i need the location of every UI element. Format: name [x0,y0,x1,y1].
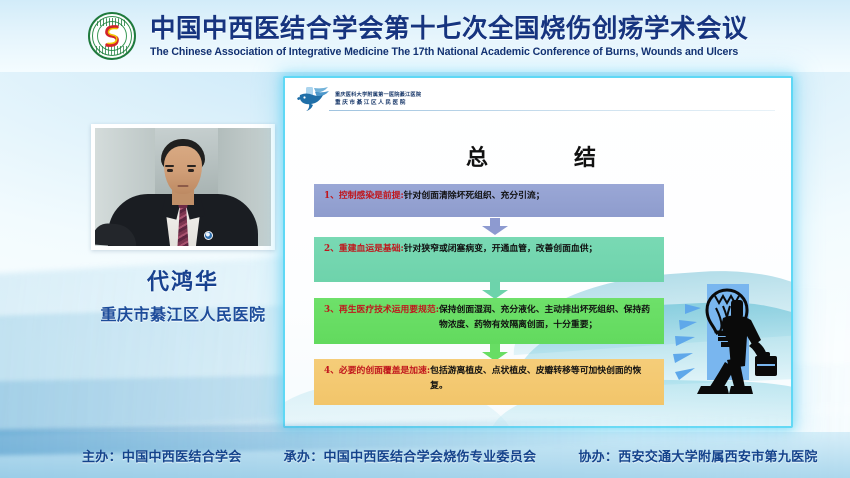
presentation-slide: 重庆医科大学附属第一医院綦江医院 重庆市綦江区人民医院 总 结 1、 控制感染是… [285,78,791,426]
speaker-panel: 代鸿华 重庆市綦江区人民医院 [91,124,275,325]
summary-item-1: 1、 控制感染是前提: 针对创面清除坏死组织、充分引流； [314,184,664,217]
arrow-2-stem [490,282,500,291]
conference-footer: 主办：中国中西医结合学会 承办：中国中西医结合学会烧伤专业委员会 协办：西安交通… [0,432,850,478]
conference-header: 中国中西医结合学会第十七次全国烧伤创疡学术会议 The Chinese Asso… [0,0,850,72]
slide-container[interactable]: 重庆医科大学附属第一医院綦江医院 重庆市綦江区人民医院 总 结 1、 控制感染是… [283,76,793,428]
footer-organizer: 主办：中国中西医结合学会 [82,446,242,465]
connector-arrow-1-icon [482,218,508,235]
footer-host: 承办：中国中西医结合学会烧伤专业委员会 [284,446,537,465]
summary-item-2-body: 针对狭窄或闭塞病变，开通血管，改善创面血供； [404,242,598,257]
slide-header-divider [329,110,775,111]
speaker-mouth [178,185,189,188]
conference-title-en: The Chinese Association of Integrative M… [150,45,748,59]
summary-item-2-index: 2、 [324,242,339,257]
speaker-video-feed[interactable] [95,128,271,246]
businessman-lightbulb-idea-icon [671,274,789,396]
hospital-names: 重庆医科大学附属第一医院綦江医院 重庆市綦江区人民医院 [335,92,421,107]
summary-item-3: 3、 再生医疗技术运用要规范: 保持创面湿润、充分液化、主动排出坏死组织、保持药… [314,298,664,344]
speaker-organization: 重庆市綦江区人民医院 [91,301,275,325]
summary-item-4: 4、 必要的创面覆盖是加速: 包括游离植皮、点状植皮、皮瓣转移等可加快创面的恢复… [314,359,664,405]
arrow-3-stem [490,344,500,353]
speaker-name: 代鸿华 [91,264,275,296]
speaker-eyebrow-left [165,165,174,167]
summary-item-4-lead: 必要的创面覆盖是加速: [339,364,430,379]
dove-bird-icon [297,86,331,112]
arrow-1-head [482,226,508,235]
summary-item-4-body: 包括游离植皮、点状植皮、皮瓣转移等可加快创面的恢复。 [430,364,655,393]
summary-item-1-index: 1、 [324,189,339,204]
summary-item-3-lead: 再生医疗技术运用要规范: [339,303,439,318]
connector-arrow-2-icon [482,282,508,299]
summary-item-2: 2、 重建血运是基础: 针对狭窄或闭塞病变，开通血管，改善创面血供； [314,237,664,282]
conference-title-cn: 中国中西医结合学会第十七次全国烧伤创疡学术会议 [150,14,748,44]
footer-co-organizer: 协办：西安交通大学附属西安市第九医院 [578,446,817,465]
header-inner: 中国中西医结合学会第十七次全国烧伤创疡学术会议 The Chinese Asso… [0,12,748,60]
summary-item-2-lead: 重建血运是基础: [339,242,404,257]
emblem-s-glyph-icon [103,24,121,48]
hospital-name-line1: 重庆医科大学附属第一医院綦江医院 [335,92,421,99]
summary-item-4-index: 4、 [324,364,339,379]
speaker-video-frame[interactable] [91,124,275,250]
summary-item-1-lead: 控制感染是前提: [339,189,404,204]
header-titles: 中国中西医结合学会第十七次全国烧伤创疡学术会议 The Chinese Asso… [150,14,748,59]
speaker-eye-right [188,169,194,172]
arrow-1-stem [490,218,500,227]
speaker-eye-left [167,169,173,172]
summary-item-1-body: 针对创面清除坏死组织、充分引流； [404,189,545,204]
slide-title: 总 结 [285,140,791,172]
speaker-eyebrow-right [187,165,196,167]
summary-item-3-body: 保持创面湿润、充分液化、主动排出坏死组织、保持药物浓度、药物有效隔离创面，十分重… [439,303,655,332]
summary-item-3-index: 3、 [324,303,339,318]
hospital-name-line2: 重庆市綦江区人民医院 [335,99,421,107]
society-emblem-icon [88,12,136,60]
broadcast-stage: 中国中西医结合学会第十七次全国烧伤创疡学术会议 The Chinese Asso… [0,0,850,478]
